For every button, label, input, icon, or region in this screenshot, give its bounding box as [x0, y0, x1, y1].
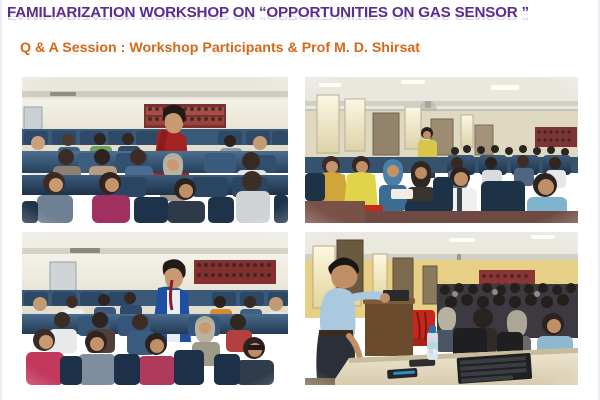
presentation-slide: FAMILIARIZATION WORKSHOP ON “OPPORTUNITI… — [0, 0, 600, 400]
auditorium-student-question-blue-jacket-illustration — [22, 232, 288, 385]
auditorium-wide-view-standing-man-illustration — [305, 77, 578, 223]
professor-addressing-audience-illustration — [305, 232, 578, 385]
photo-bottom-right — [305, 232, 578, 385]
slide-left-edge — [0, 0, 3, 400]
auditorium-student-question-red-kurta-illustration — [22, 77, 288, 223]
slide-subtitle: Q & A Session : Workshop Participants & … — [20, 40, 580, 57]
photo-bottom-left — [22, 232, 288, 385]
slide-subtitle-block: Q & A Session : Workshop Participants & … — [20, 40, 580, 68]
photo-top-left — [22, 77, 288, 223]
slide-title-block: FAMILIARIZATION WORKSHOP ON “OPPORTUNITI… — [7, 3, 595, 35]
photo-top-right — [305, 77, 578, 223]
slide-title: FAMILIARIZATION WORKSHOP ON “OPPORTUNITI… — [7, 3, 595, 22]
